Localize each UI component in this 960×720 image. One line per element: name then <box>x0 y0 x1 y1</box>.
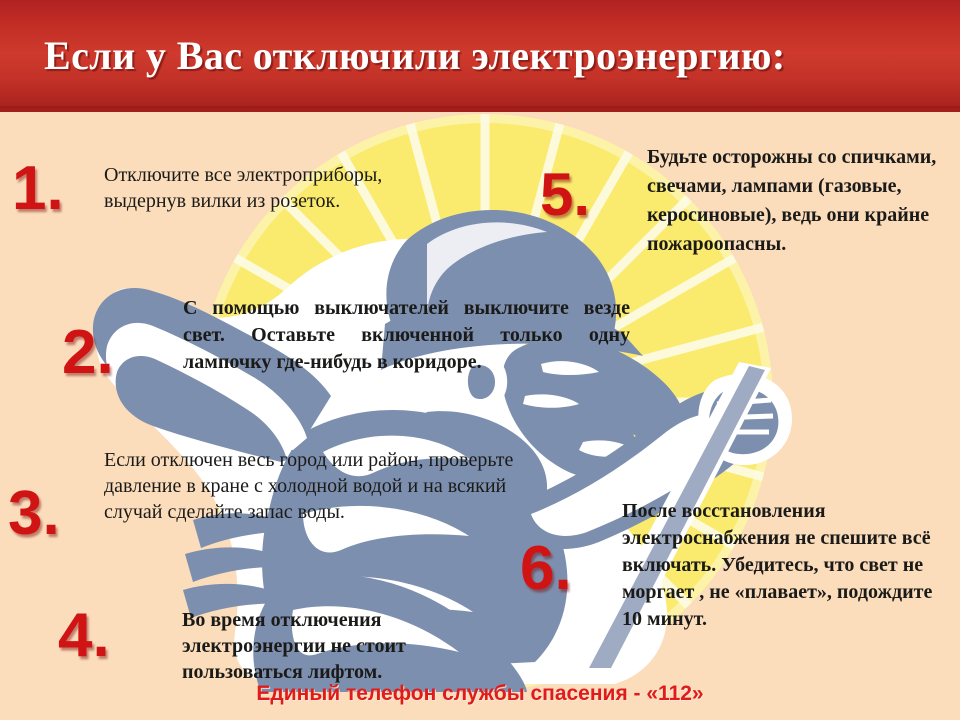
step-text-1: Отключите все электроприборы, выдернув в… <box>104 162 414 214</box>
step-text-6: После восстановления электроснабжения не… <box>622 498 942 633</box>
step-number-3: 3. <box>8 483 60 545</box>
step-text-5-body: Будьте осторожны со спичками, свечами, л… <box>647 143 947 259</box>
emergency-phone-footer: Единый телефон службы спасения - «112» <box>0 682 960 706</box>
step-text-6-body: После восстановления электроснабжения не… <box>622 498 942 633</box>
step-number-6: 6. <box>520 538 572 600</box>
header-banner: Если у Вас отключили электроэнергию: <box>0 0 960 112</box>
step-text-3: Если отключен весь город или район, пров… <box>104 447 524 525</box>
step-number-4: 4. <box>58 605 110 667</box>
step-text-3-body: Если отключен весь город или район, пров… <box>104 447 524 525</box>
step-text-2: С помощью выключателей выключите везде с… <box>183 295 630 376</box>
step-text-4: Во время отключения электроэнергии не ст… <box>182 607 472 685</box>
step-text-1-body: Отключите все электроприборы, выдернув в… <box>104 162 414 214</box>
step-number-5: 5. <box>540 165 590 225</box>
step-number-2: 2. <box>62 322 114 384</box>
page-title: Если у Вас отключили электроэнергию: <box>44 30 934 82</box>
step-text-2-body: С помощью выключателей выключите везде с… <box>183 295 630 376</box>
step-text-5: Будьте осторожны со спичками, свечами, л… <box>647 143 947 259</box>
emergency-phone-text: Единый телефон службы спасения - «112» <box>256 682 703 705</box>
step-text-4-body: Во время отключения электроэнергии не ст… <box>182 607 472 685</box>
step-number-1: 1. <box>12 158 64 220</box>
poster-canvas: Если у Вас отключили электроэнергию: 1. … <box>0 0 960 720</box>
